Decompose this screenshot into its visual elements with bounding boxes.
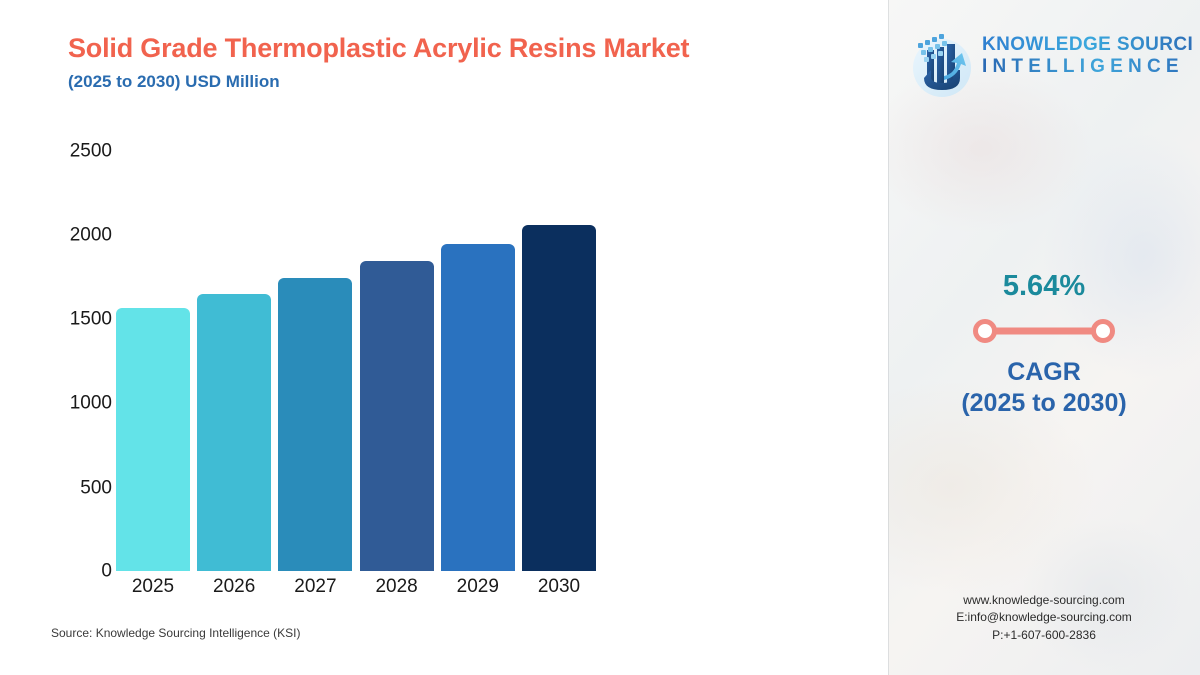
cagr-period: (2025 to 2030) xyxy=(888,388,1200,419)
y-tick-label: 0 xyxy=(2,562,112,581)
cagr-block: 5.64% CAGR (2025 to 2030) xyxy=(888,272,1200,420)
brand-name: KNOWLEDGE SOURCING INTELLIGENCE xyxy=(982,34,1194,79)
knowledge-sourcing-logo-icon xyxy=(904,26,978,100)
bar-2028[interactable] xyxy=(360,261,434,571)
y-tick-label: 2000 xyxy=(2,226,112,245)
brand-logo: KNOWLEDGE SOURCING INTELLIGENCE xyxy=(904,24,1194,102)
y-tick-label: 2500 xyxy=(2,142,112,161)
brand-name-line1: KNOWLEDGE SOURCING xyxy=(982,34,1194,56)
infographic-slide: Solid Grade Thermoplastic Acrylic Resins… xyxy=(0,0,1200,675)
bar-2025[interactable] xyxy=(116,308,190,571)
cagr-value: 5.64% xyxy=(888,272,1200,301)
contact-website[interactable]: www.knowledge-sourcing.com xyxy=(888,592,1200,609)
y-tick-label: 1000 xyxy=(2,394,112,413)
chart-panel: Solid Grade Thermoplastic Acrylic Resins… xyxy=(0,0,888,675)
contact-phone: P:+1-607-600-2836 xyxy=(888,627,1200,644)
cagr-label: CAGR xyxy=(888,357,1200,388)
dumbbell-connector-icon xyxy=(971,318,1117,344)
bar-2026[interactable] xyxy=(197,294,271,571)
brand-name-line2: INTELLIGENCE xyxy=(982,56,1194,79)
x-tick-label-2029: 2029 xyxy=(441,576,515,598)
y-tick-label: 1500 xyxy=(2,310,112,329)
bar-2030[interactable] xyxy=(522,225,596,571)
bar-2029[interactable] xyxy=(441,244,515,571)
x-tick-label-2026: 2026 xyxy=(197,576,271,598)
source-note: Source: Knowledge Sourcing Intelligence … xyxy=(51,626,300,640)
x-tick-label-2027: 2027 xyxy=(278,576,352,598)
bar-2027[interactable] xyxy=(278,278,352,571)
y-tick-label: 500 xyxy=(2,479,112,498)
bar-chart-plot: 2500 2000 1500 1000 500 0 2025 2026 2027… xyxy=(0,0,888,675)
x-tick-label-2030: 2030 xyxy=(522,576,596,598)
contact-email[interactable]: E:info@knowledge-sourcing.com xyxy=(888,609,1200,626)
x-tick-label-2028: 2028 xyxy=(360,576,434,598)
contact-info: www.knowledge-sourcing.com E:info@knowle… xyxy=(888,592,1200,644)
side-panel: KNOWLEDGE SOURCING INTELLIGENCE 5.64% CA… xyxy=(888,0,1200,675)
x-tick-label-2025: 2025 xyxy=(116,576,190,598)
